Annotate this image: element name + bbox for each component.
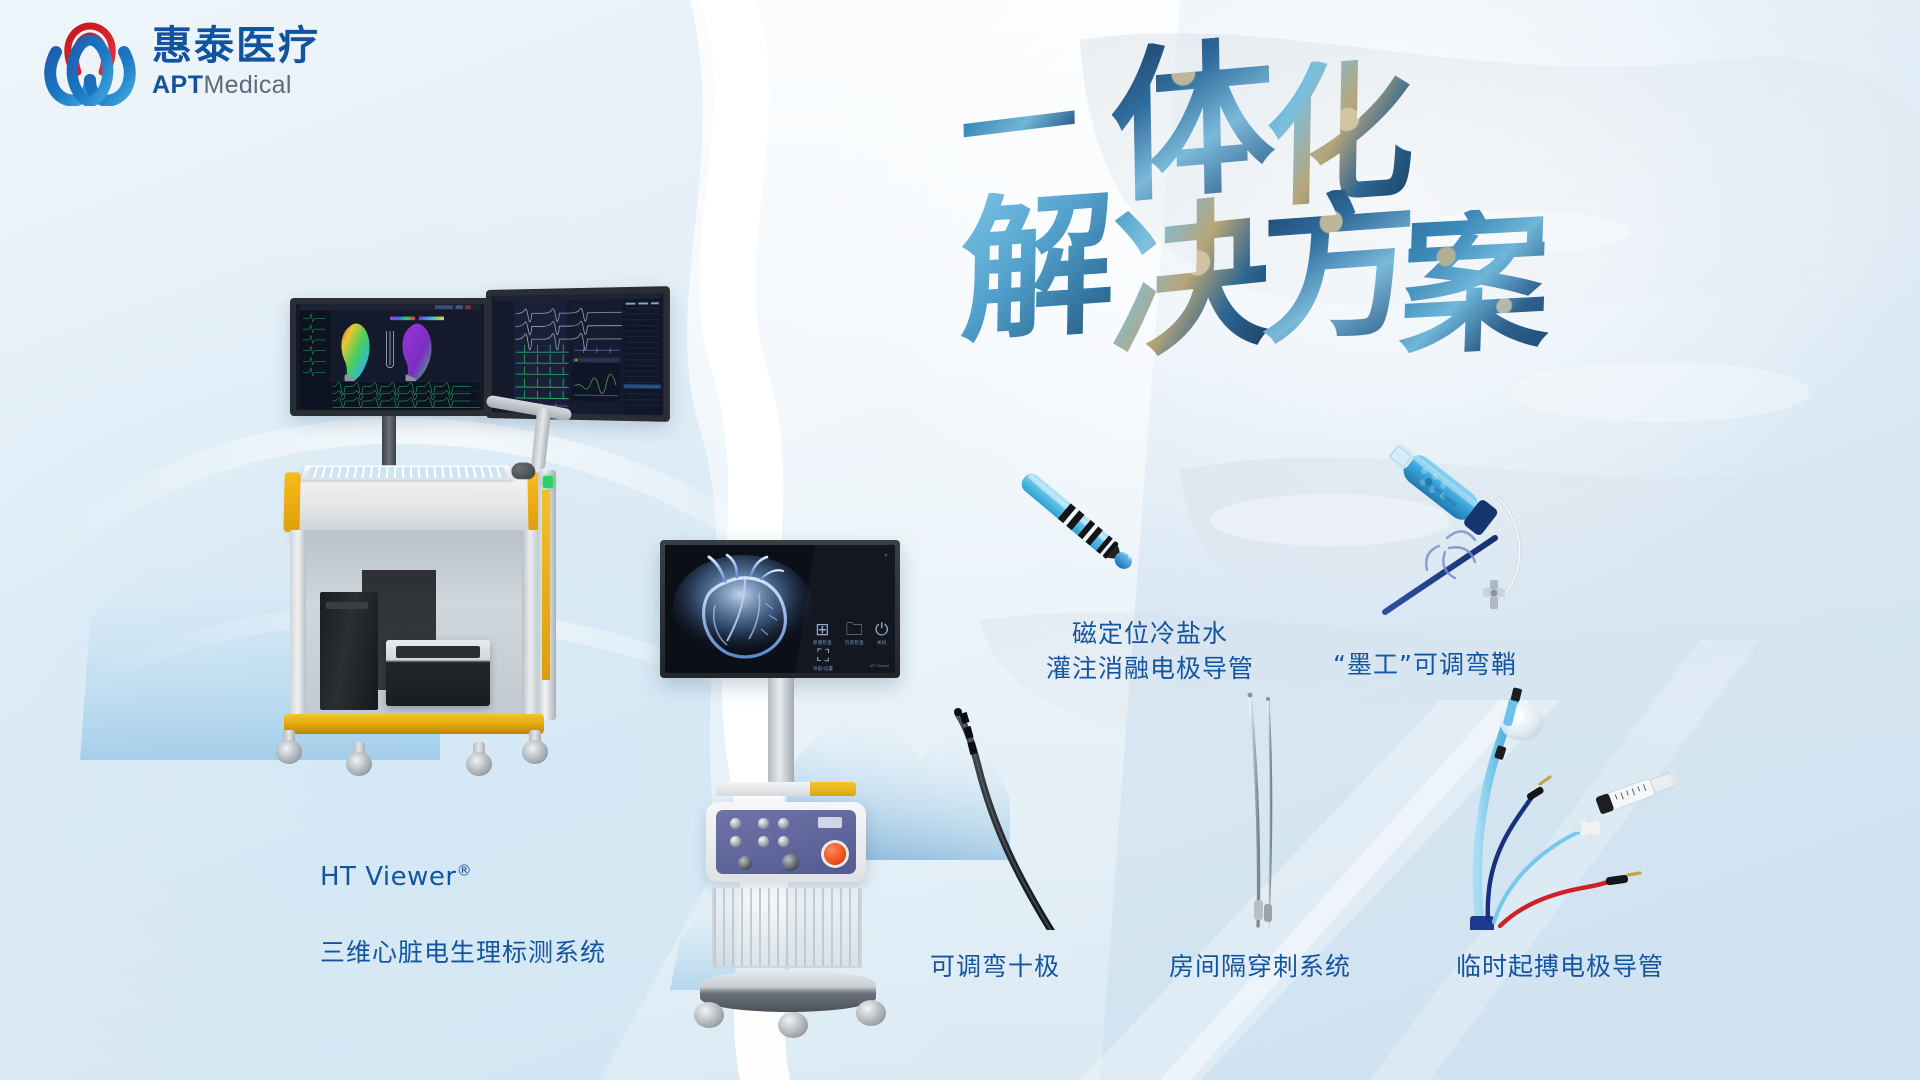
- ecg-monitor-screen: [492, 293, 664, 416]
- brand-name-en-light: Medical: [204, 71, 292, 100]
- cart-base-rail: [284, 714, 544, 734]
- caption-decapolar: 可调弯十极: [905, 950, 1085, 985]
- display-monitor: APT Medical ⊞新建检查 🗀历史检查 ⏻关机 ⛶导航/设置: [660, 540, 900, 678]
- emergency-stop-button[interactable]: [824, 843, 846, 865]
- caster-front-right: [522, 730, 548, 762]
- irrigated-ablation-catheter-illustration: [975, 440, 1175, 600]
- calligraphy-glyph-5: 决: [1110, 191, 1269, 369]
- display-cart-shelf-accent: [810, 782, 856, 796]
- calligraphy-glyph-6: 方: [1260, 184, 1418, 353]
- brand-name-en-bold: APT: [152, 71, 204, 100]
- connector-knob-3[interactable]: [758, 818, 769, 829]
- keyboard[interactable]: [300, 465, 514, 480]
- display-cart-pole: [768, 678, 794, 786]
- connector-knob-4[interactable]: [758, 836, 769, 847]
- mouse[interactable]: [511, 463, 535, 480]
- brand-name-en: APTMedical: [152, 71, 320, 100]
- mapping-monitor: [290, 298, 490, 416]
- brand-name-cn: 惠泰医疗: [152, 25, 320, 67]
- new-exam-icon[interactable]: ⊞新建检查: [813, 621, 832, 646]
- power-icon[interactable]: ⏻关机: [875, 621, 888, 646]
- pc-tower: [320, 592, 378, 710]
- power-led-indicator: [543, 476, 553, 488]
- caption-ht-viewer: HT Viewer® 三维心脏电生理标测系统: [320, 820, 606, 1009]
- brand-wordmark: 惠泰医疗 APTMedical: [152, 25, 320, 100]
- transseptal-needle-system-illustration: [1210, 690, 1310, 940]
- keyboard-tray: [289, 476, 538, 534]
- calligraphy-glyph-7: 案: [1397, 206, 1552, 364]
- temporary-pacing-catheter-illustration: [1370, 680, 1690, 930]
- heart-illustration: APT Medical: [665, 545, 895, 673]
- main-port[interactable]: [782, 854, 799, 871]
- caster-rear-right: [466, 742, 492, 774]
- calligraphy-glyph-4: 解: [959, 184, 1116, 350]
- cart-post-accent: [542, 490, 550, 680]
- ht-viewer-description: 三维心脏电生理标测系统: [320, 934, 606, 972]
- cart-column-right: [522, 530, 538, 716]
- caster-front-left: [276, 730, 302, 762]
- ht-viewer-workstation-cart: [290, 290, 710, 810]
- connector-knob-1[interactable]: [730, 818, 741, 829]
- connector-knob-2[interactable]: [730, 836, 741, 847]
- trademark-symbol: ®: [457, 861, 473, 879]
- display-caster-center: [778, 1002, 808, 1038]
- display-monitor-screen: APT Medical ⊞新建检查 🗀历史检查 ⏻关机 ⛶导航/设置: [665, 545, 895, 673]
- control-panel: [706, 802, 866, 882]
- navigation-settings-icon[interactable]: ⛶导航/设置: [813, 647, 833, 672]
- mapping-screen-content: [296, 304, 484, 410]
- cart-body: [290, 530, 538, 716]
- brand-logo[interactable]: 惠泰医疗 APTMedical: [42, 18, 320, 106]
- steerable-sheath-illustration: APT Medical: [1375, 440, 1665, 630]
- connector-knob-5[interactable]: [778, 818, 789, 829]
- printer: [386, 640, 490, 706]
- display-caster-right: [856, 990, 886, 1026]
- connector-knob-6[interactable]: [778, 836, 789, 847]
- history-folder-icon[interactable]: 🗀历史检查: [845, 621, 864, 646]
- storage-basket: [712, 888, 862, 968]
- tray-bumper-left: [283, 472, 300, 532]
- poster-canvas: 惠泰医疗 APTMedical 一 体 化 解 决 方 案: [0, 0, 1920, 1080]
- keyboard-keys: [307, 467, 507, 478]
- panel-display: [818, 817, 842, 828]
- cart-column-left: [290, 530, 306, 716]
- svg-text:APT Medical: APT Medical: [870, 664, 889, 668]
- caster-rear-left: [346, 742, 372, 774]
- control-panel-face: [716, 810, 856, 874]
- ground-port[interactable]: [738, 856, 752, 870]
- caption-steerable-sheath: “墨工”可调弯鞘: [1300, 648, 1550, 683]
- apt-medical-infinity-heart-logo-icon: [42, 18, 138, 106]
- mapping-monitor-screen: [296, 304, 484, 410]
- caption-irrigated-catheter: 磁定位冷盐水 灌注消融电极导管: [1010, 617, 1290, 686]
- headline-calligraphy: 一 体 化 解 决 方 案: [960, 40, 1580, 340]
- display-caster-left: [694, 992, 724, 1028]
- caption-transseptal: 房间隔穿刺系统: [1155, 950, 1365, 985]
- ht-viewer-product-name: HT Viewer®: [320, 858, 606, 897]
- caption-temporary-pacing: 临时起搏电极导管: [1445, 950, 1675, 985]
- decapolar-catheter-illustration: [940, 700, 1080, 930]
- ecg-screen-content: [492, 293, 664, 416]
